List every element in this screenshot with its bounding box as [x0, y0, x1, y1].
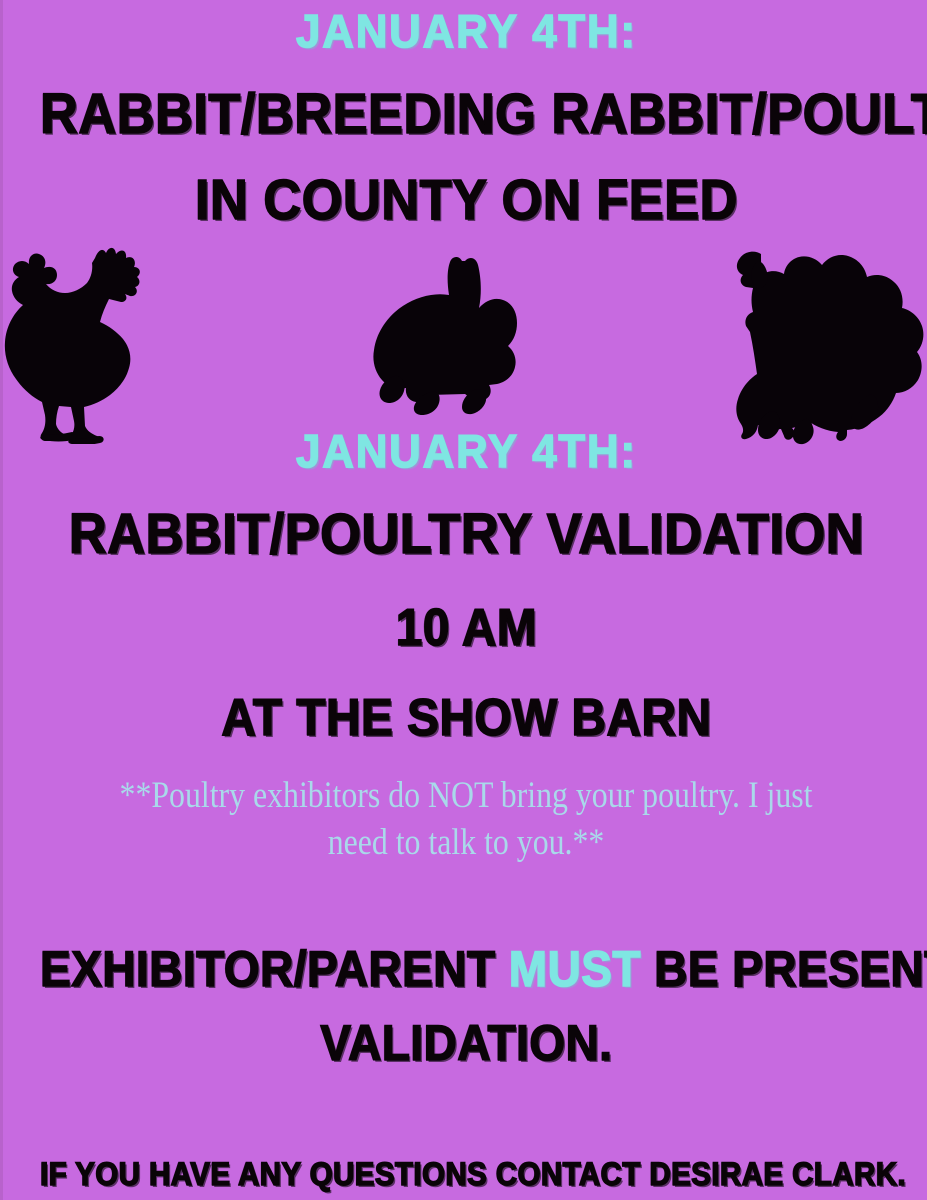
requirement-line-2: VALIDATION. — [40, 1018, 893, 1068]
event-flyer: JANUARY 4TH: RABBIT/BREEDING RABBIT/POUL… — [0, 0, 927, 1200]
contact-line: IF YOU HAVE ANY QUESTIONS CONTACT DESIRA… — [40, 1158, 893, 1190]
turkey-silhouette — [717, 236, 927, 446]
requirement-suffix: BE PRESENT AT — [641, 941, 927, 997]
requirement-emphasis: MUST — [509, 941, 641, 997]
event-location: AT THE SHOW BARN — [40, 692, 893, 744]
requirement-line-1: EXHIBITOR/PARENT MUST BE PRESENT AT — [40, 944, 893, 994]
title-line-2: IN COUNTY ON FEED — [40, 172, 893, 229]
date-heading-primary: JANUARY 4TH: — [26, 8, 907, 54]
date-heading-secondary: JANUARY 4TH: — [26, 428, 907, 474]
rabbit-silhouette — [369, 254, 549, 422]
event-time: 10 AM — [40, 602, 893, 654]
poultry-note: **Poultry exhibitors do NOT bring your p… — [88, 772, 845, 867]
validation-line: RABBIT/POULTRY VALIDATION — [40, 506, 893, 563]
animal-silhouette-group — [3, 236, 927, 446]
requirement-prefix: EXHIBITOR/PARENT — [40, 941, 509, 997]
title-line-1: RABBIT/BREEDING RABBIT/POULTRY — [40, 86, 893, 143]
chicken-silhouette — [0, 244, 189, 444]
